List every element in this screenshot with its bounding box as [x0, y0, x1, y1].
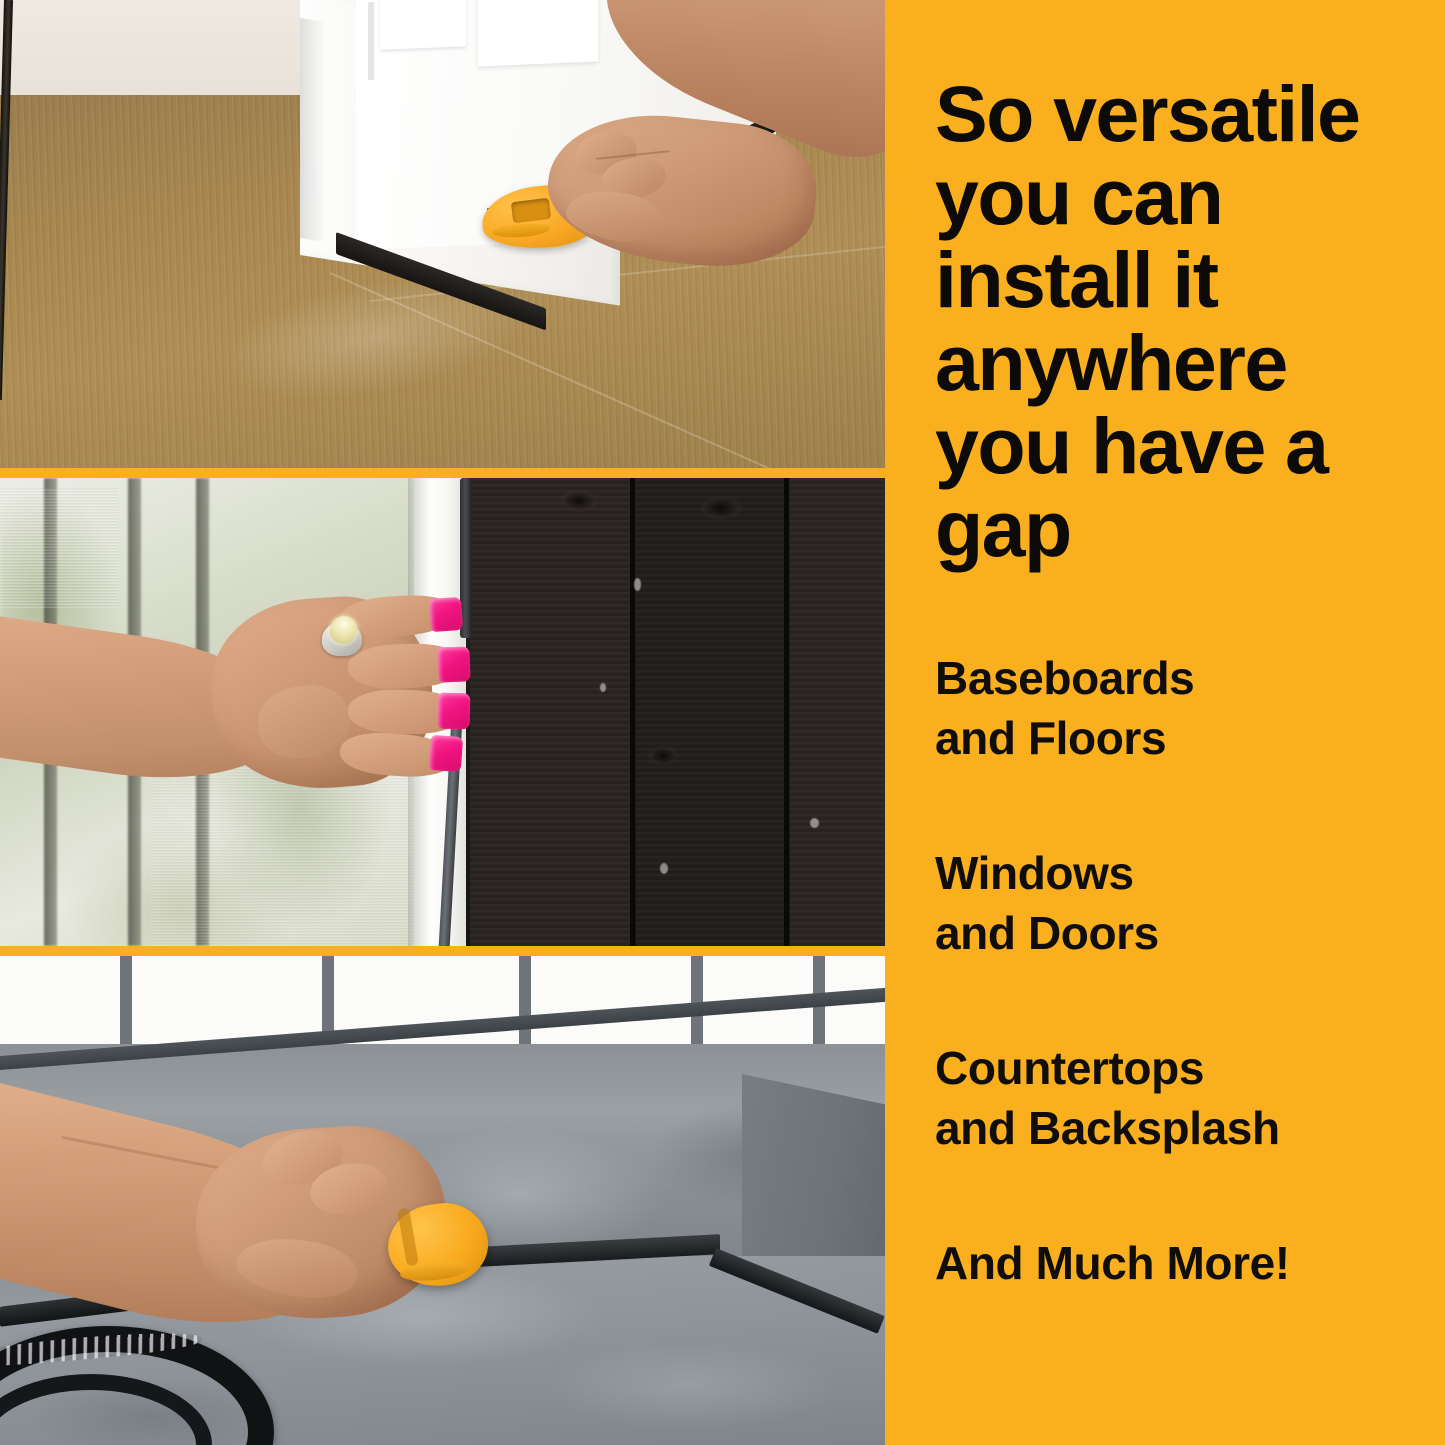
window-screen: [0, 488, 118, 608]
wood-plank: [790, 478, 885, 946]
wood-knot: [648, 746, 678, 766]
countertop-backsplash-photo: [0, 956, 885, 1445]
pink-fingernail: [438, 693, 471, 730]
baseboard-floor-photo: [0, 0, 885, 468]
headline: So versatile you can install it anywhere…: [935, 72, 1430, 570]
photo-column: [0, 0, 885, 1445]
benefit-item-windows: Windows and Doors: [935, 843, 1435, 963]
benefit-item-more: And Much More!: [935, 1233, 1435, 1293]
pink-fingernail: [437, 646, 470, 682]
window-door-photo: [0, 478, 885, 946]
paint-speck: [660, 863, 668, 874]
baseboard-corner-line: [368, 2, 374, 80]
paint-speck: [810, 818, 819, 828]
baseboard-shadow: [300, 18, 325, 242]
paint-speck: [634, 578, 641, 591]
cabinet-panel: [380, 0, 466, 50]
product-feature-infographic: So versatile you can install it anywhere…: [0, 0, 1445, 1445]
wood-plank: [636, 478, 784, 946]
wood-knot: [560, 490, 598, 512]
wood-knot: [700, 496, 742, 520]
benefit-item-baseboards: Baseboards and Floors: [935, 648, 1435, 768]
pink-fingernail: [429, 735, 463, 772]
wood-plank: [470, 478, 630, 946]
pink-fingernail: [429, 597, 463, 632]
paint-speck: [600, 683, 606, 692]
text-panel: So versatile you can install it anywhere…: [885, 0, 1445, 1445]
benefit-item-countertops: Countertops and Backsplash: [935, 1038, 1435, 1158]
cabinet-panel: [478, 0, 598, 67]
plank-gap: [630, 478, 635, 946]
plank-gap: [784, 478, 789, 946]
benefits-list: Baseboards and Floors Windows and Doors …: [935, 648, 1435, 1293]
